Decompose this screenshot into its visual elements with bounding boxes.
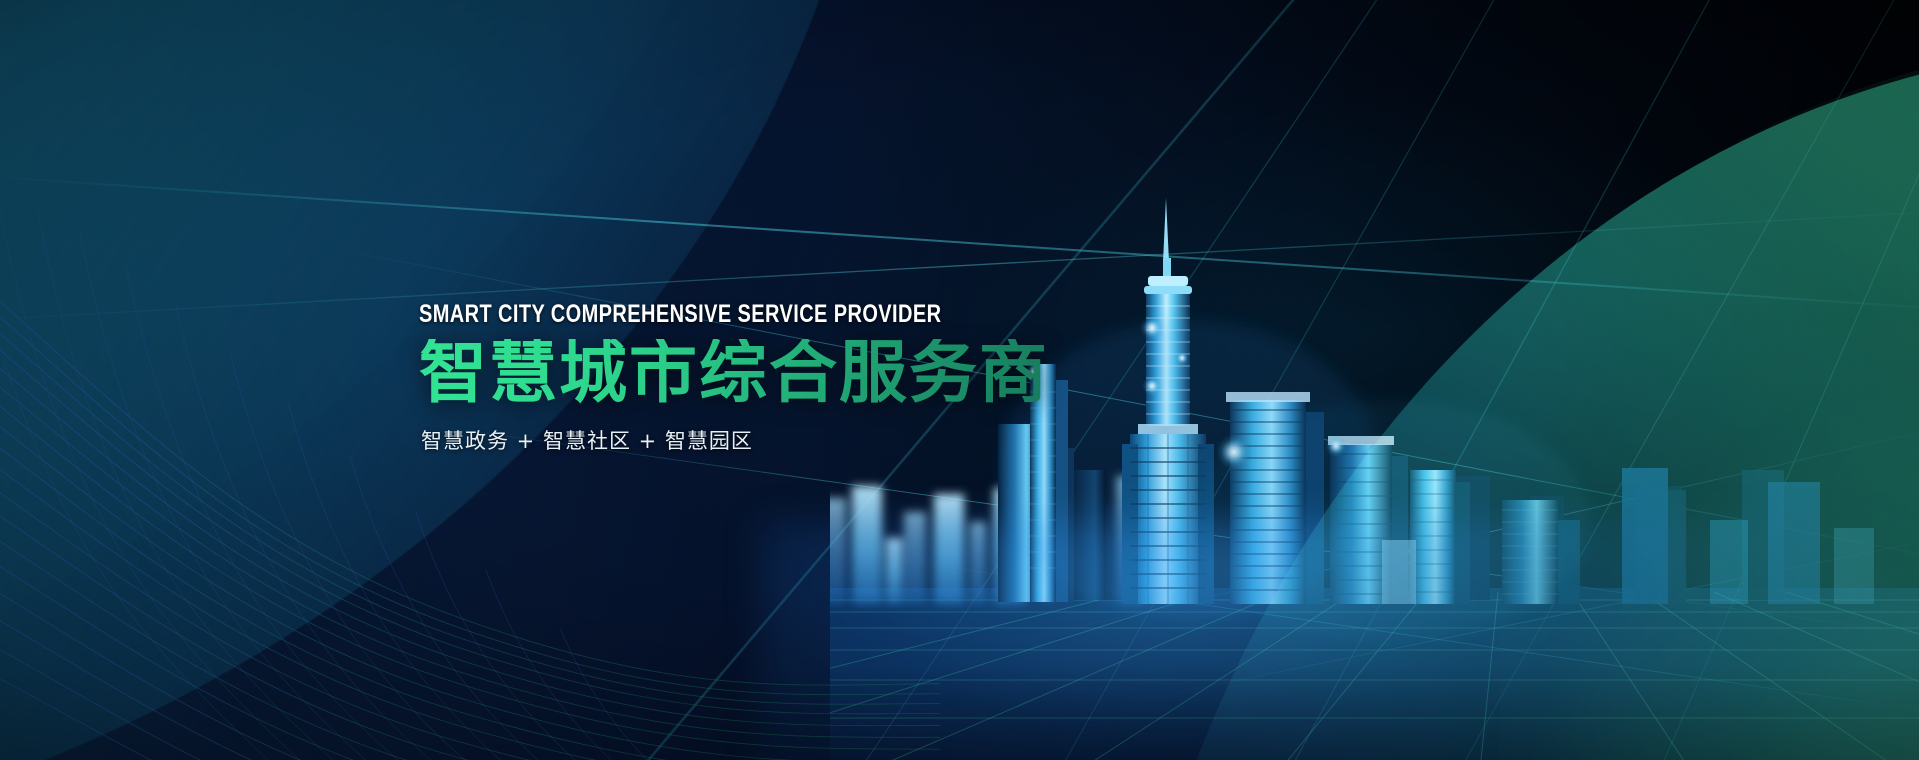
hero-headline: 智慧城市综合服务商 (419, 339, 1072, 408)
wireframe-flow-mesh (0, 210, 940, 760)
hero-copy-block: SMART CITY COMPREHENSIVE SERVICE PROVIDE… (419, 300, 1072, 455)
smart-city-hero-banner: SMART CITY COMPREHENSIVE SERVICE PROVIDE… (0, 0, 1919, 760)
hero-subline: 智慧政务 + 智慧社区 + 智慧园区 (421, 425, 1072, 455)
hero-eyebrow: SMART CITY COMPREHENSIVE SERVICE PROVIDE… (419, 300, 941, 329)
bottom-right-green-corner-glow (1499, 330, 1919, 760)
